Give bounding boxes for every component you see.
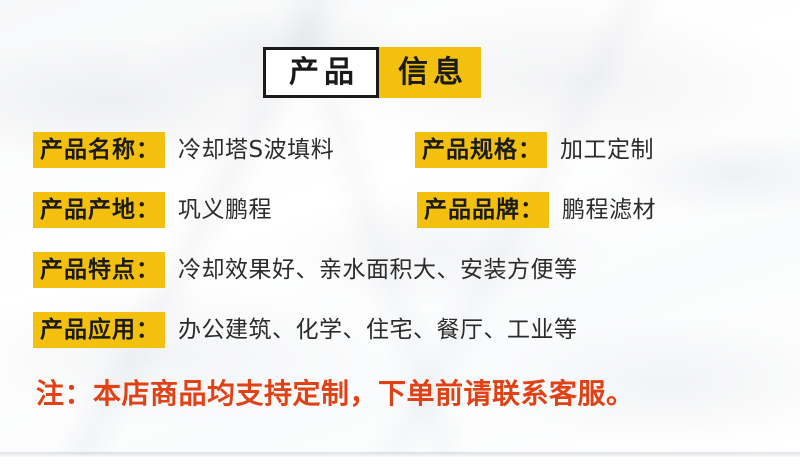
spec-row-product-features: 产品特点： 冷却效果好、亲水面积大、安装方便等 <box>33 252 578 288</box>
spec-value-product-origin: 巩义鹏程 <box>178 192 272 228</box>
spec-row-product-applications: 产品应用： 办公建筑、化学、住宅、餐厅、工业等 <box>33 312 578 348</box>
spec-value-product-brand: 鹏程滤材 <box>562 192 656 228</box>
panel-bottom-edge <box>0 452 800 457</box>
spec-value-product-features: 冷却效果好、亲水面积大、安装方便等 <box>178 252 578 288</box>
spec-row-product-specification: 产品规格： 加工定制 <box>415 132 654 168</box>
spec-label-product-features: 产品特点： <box>33 252 165 288</box>
spec-label-product-name: 产品名称： <box>33 132 165 168</box>
spec-label-product-origin: 产品产地： <box>33 192 165 228</box>
page-title-word-outlined: 产品 <box>263 47 379 98</box>
spec-label-product-specification: 产品规格： <box>415 132 547 168</box>
product-info-banner: 产品 信息 产品名称： 冷却塔S波填料 产品规格： 加工定制 产品产地： 巩义鹏… <box>0 0 800 472</box>
spec-row-product-origin: 产品产地： 巩义鹏程 <box>33 192 272 228</box>
spec-row-product-name: 产品名称： 冷却塔S波填料 <box>33 132 334 168</box>
customization-note: 注：本店商品均支持定制，下单前请联系客服。 <box>36 374 635 414</box>
page-title-word-highlighted: 信息 <box>379 47 481 98</box>
spec-value-product-name: 冷却塔S波填料 <box>178 132 334 168</box>
spec-value-product-specification: 加工定制 <box>560 132 654 168</box>
spec-label-product-brand: 产品品牌： <box>417 192 549 228</box>
spec-label-product-applications: 产品应用： <box>33 312 165 348</box>
page-title: 产品 信息 <box>263 47 481 98</box>
spec-value-product-applications: 办公建筑、化学、住宅、餐厅、工业等 <box>178 312 578 348</box>
spec-row-product-brand: 产品品牌： 鹏程滤材 <box>417 192 656 228</box>
